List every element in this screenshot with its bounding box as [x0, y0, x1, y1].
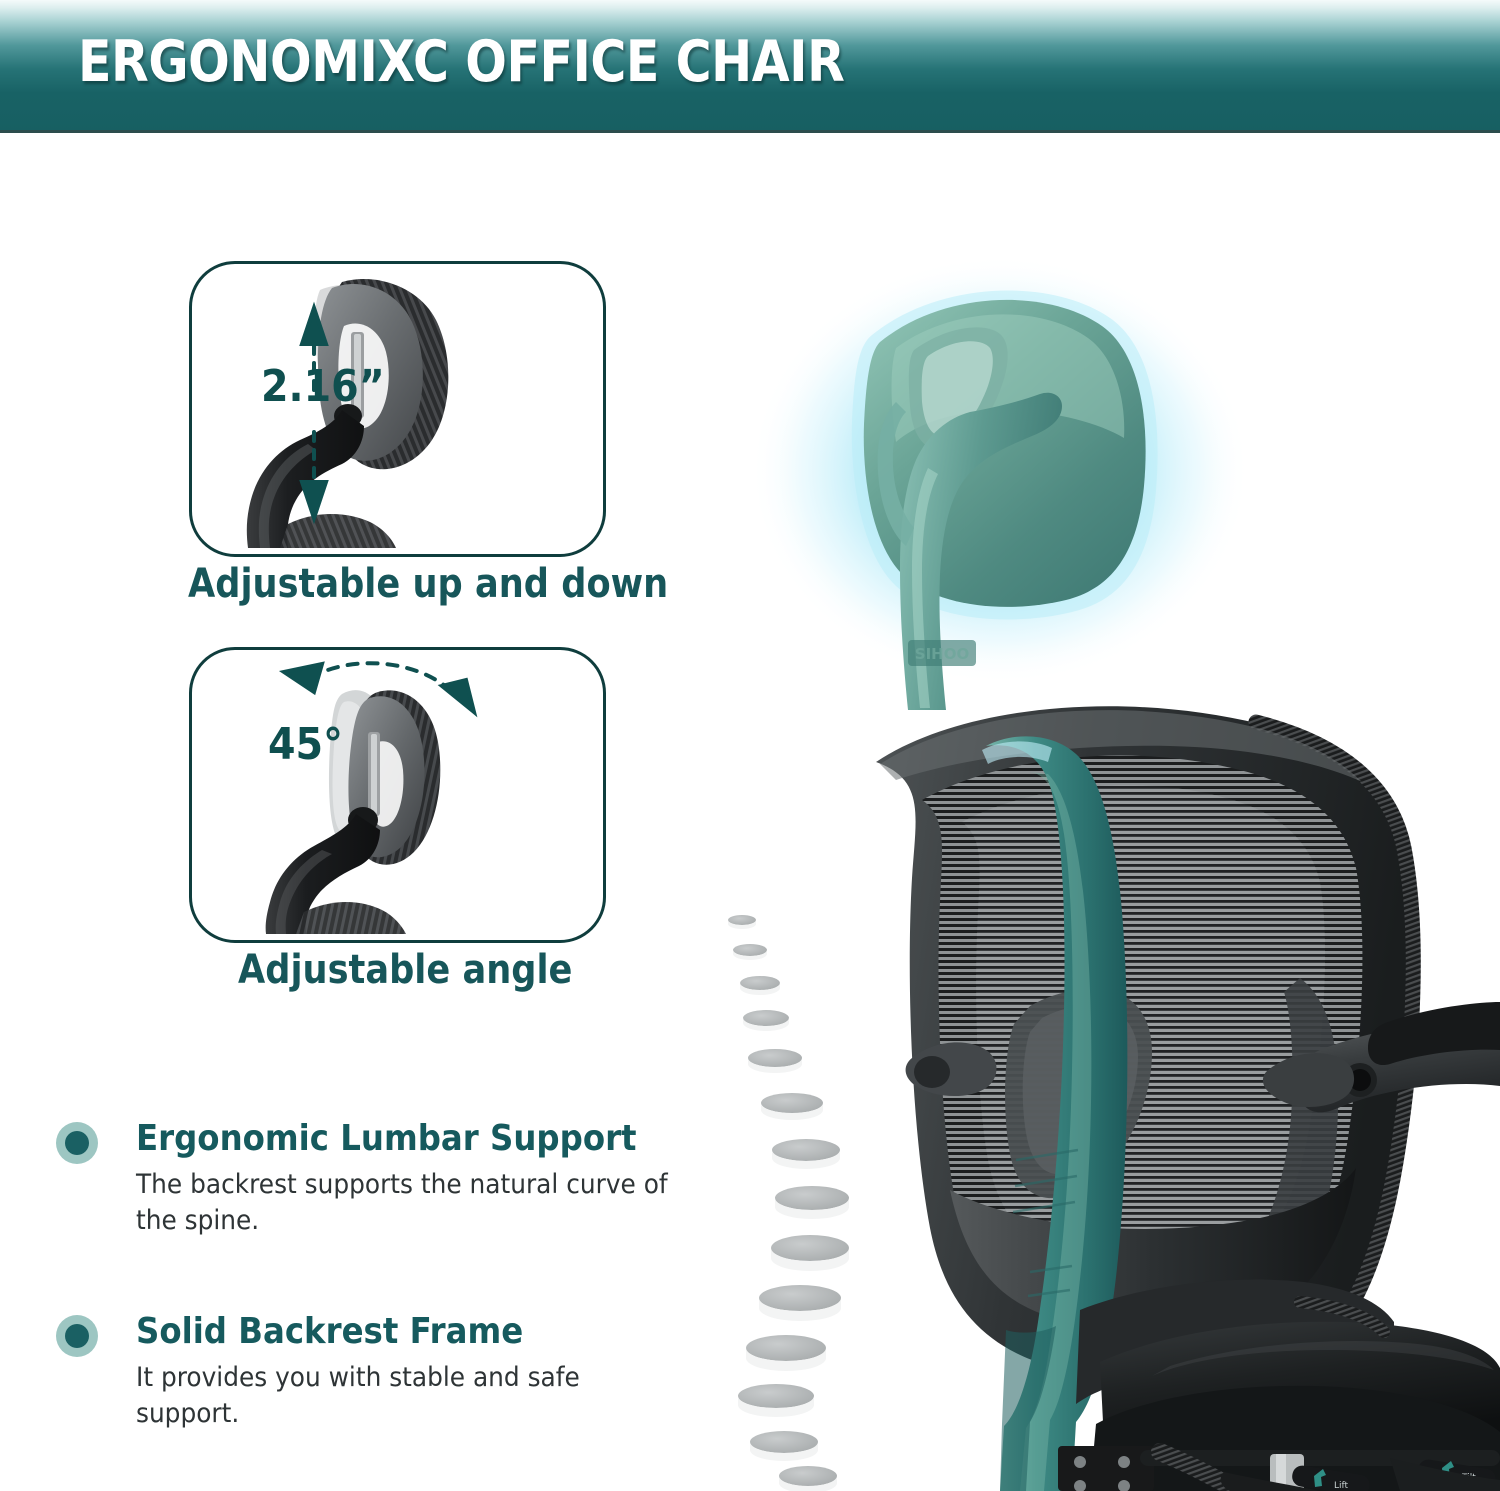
bullet-body: It provides you with stable and safe sup…	[136, 1360, 688, 1431]
bullet-heading: Solid Backrest Frame	[136, 1311, 694, 1352]
angle-measurement-label: 45°	[268, 719, 343, 770]
bullet-body: The backrest supports the natural curve …	[136, 1167, 688, 1238]
bullet-dot-icon	[56, 1122, 98, 1164]
feature-bullet-list: Ergonomic Lumbar Support The backrest su…	[56, 1118, 756, 1441]
page-title: ERGONOMIXC OFFICE CHAIR	[78, 29, 844, 95]
feature-card-adjustable-height: 2.16”	[189, 261, 606, 557]
bullet-dot-icon	[56, 1315, 98, 1357]
product-photo: SIHOO	[700, 150, 1500, 1491]
product-infographic: ERGONOMIXC OFFICE CHAIR	[0, 0, 1500, 1491]
list-spacer	[56, 1249, 756, 1311]
header-banner: ERGONOMIXC OFFICE CHAIR	[0, 0, 1500, 133]
headrest-height-illustration	[192, 264, 597, 548]
svg-text:Lift: Lift	[1334, 1481, 1349, 1491]
office-chair-image: SIHOO	[700, 150, 1500, 1491]
headrest-angle-illustration	[192, 650, 597, 934]
list-item: Solid Backrest Frame It provides you wit…	[56, 1311, 756, 1432]
feature-card-adjustable-angle: 45°	[189, 647, 606, 943]
caption-adjustable-height: Adjustable up and down	[188, 561, 668, 607]
bullet-heading: Ergonomic Lumbar Support	[136, 1118, 694, 1159]
height-measurement-label: 2.16”	[261, 361, 385, 412]
svg-text:SIHOO: SIHOO	[915, 645, 969, 663]
spine-disc-trail	[728, 915, 849, 1491]
list-item: Ergonomic Lumbar Support The backrest su…	[56, 1118, 756, 1239]
caption-adjustable-angle: Adjustable angle	[238, 947, 572, 993]
